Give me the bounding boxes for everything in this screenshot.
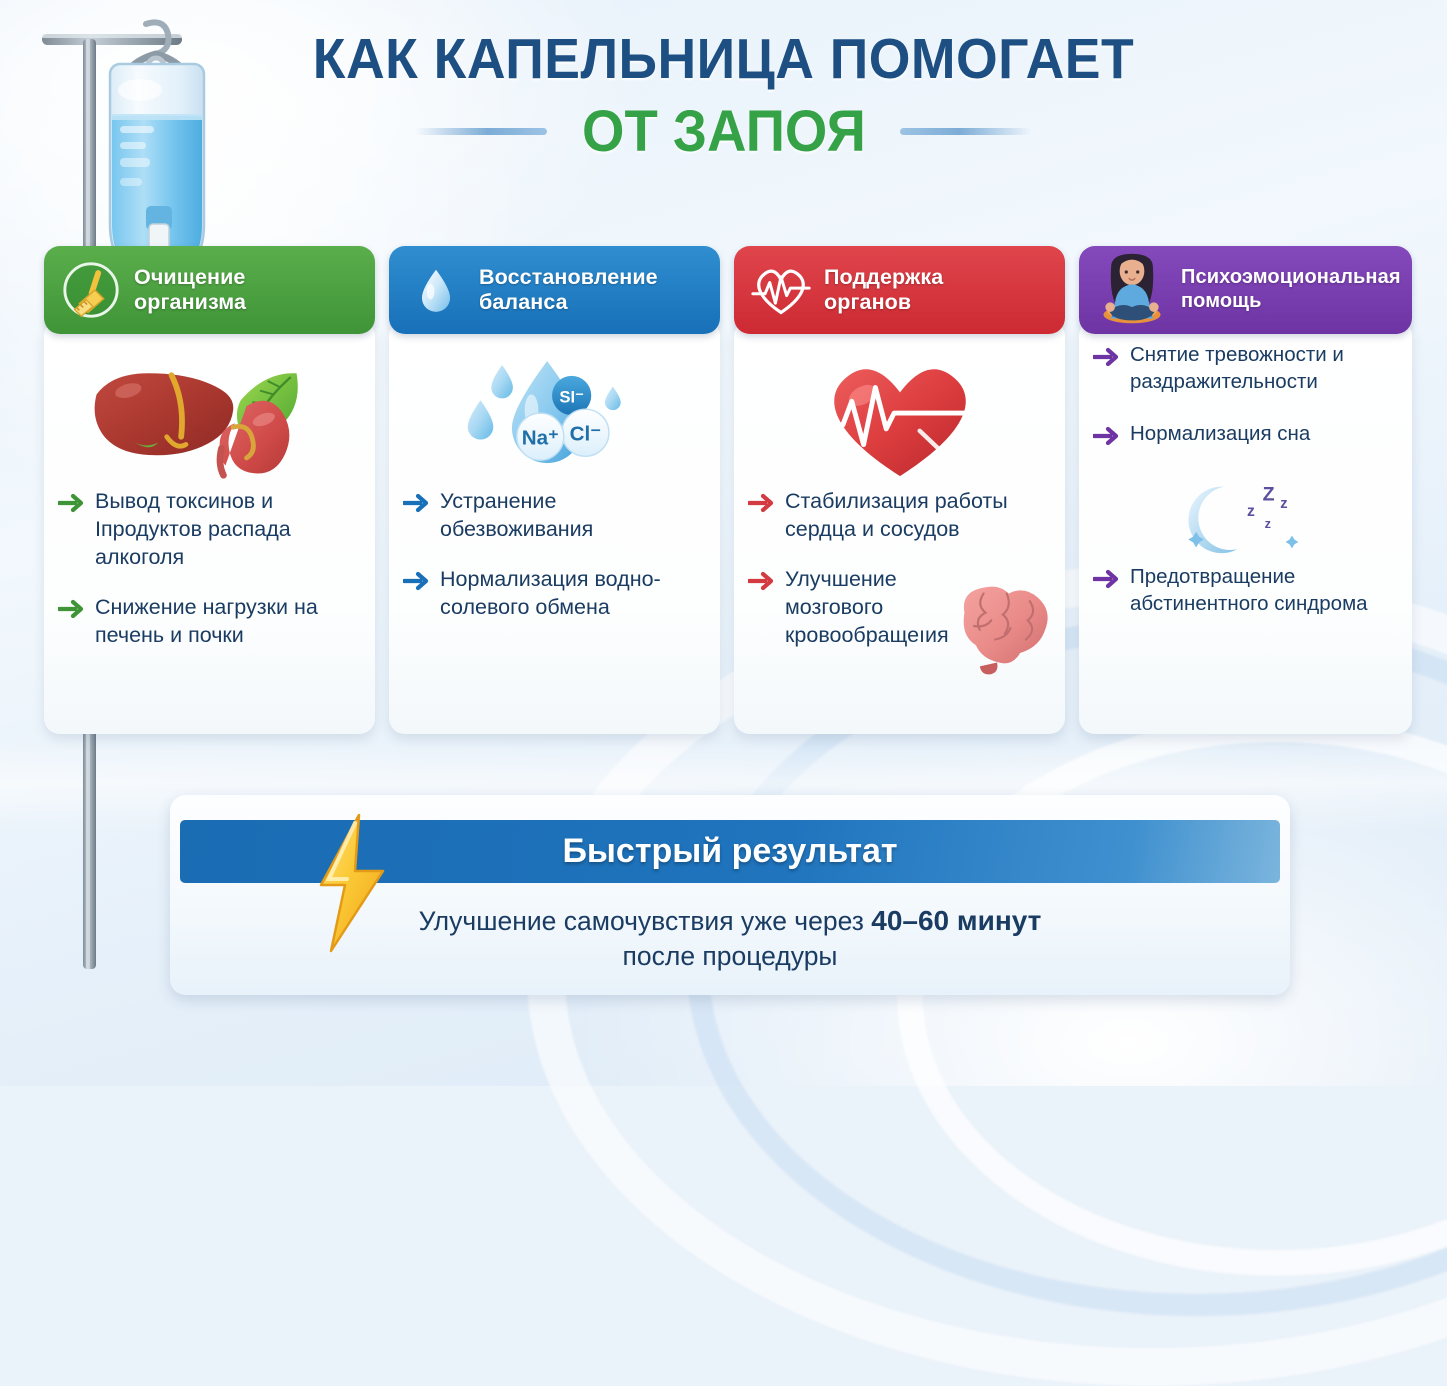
card-organs[interactable]: Поддержкаорганов — [734, 246, 1065, 746]
list-item: Улучшение мозгового кровообращеıия — [748, 566, 1051, 650]
card-organs-bullets: Стабилизация работы сердца и сосудов Улу… — [748, 488, 1051, 650]
bullet-text: Нормализация водно-солевого обмена — [440, 566, 706, 622]
bullet-text: Устранение обезвоживания — [440, 488, 706, 544]
bullet-text: Нормализация сна — [1130, 421, 1310, 448]
svg-text:z: z — [1264, 516, 1270, 531]
card-psycho[interactable]: Психоэмоциональнаяпомощь Снятие тревожно… — [1079, 246, 1412, 746]
benefit-cards: Очищениеорганизма — [44, 246, 1412, 746]
page-subtitle-row: ОТ ЗАПОЯ — [0, 98, 1447, 165]
card-balance-title: Восстановлениебаланса — [479, 265, 658, 316]
svg-text:z: z — [1246, 503, 1254, 520]
card-psycho-bullets: Снятие тревожности и раздражительности Н… — [1093, 342, 1398, 617]
page-title-line2: ОТ ЗАПОЯ — [582, 98, 866, 165]
arrow-right-icon — [403, 493, 429, 513]
list-item: Снятие тревожности и раздражительности — [1093, 342, 1398, 395]
list-item: Устранение обезвоживания — [403, 488, 706, 544]
arrow-right-icon — [1093, 569, 1119, 589]
list-item: Вывод токсинов и Iпродуктов распада алко… — [58, 488, 361, 572]
bullet-text: Вывод токсинов и Iпродуктов распада алко… — [95, 488, 361, 572]
card-cleansing-body: Вывод токсинов и Iпродуктов распада алко… — [44, 320, 375, 734]
list-item: Нормализация сна — [1093, 421, 1398, 448]
arrow-right-icon — [58, 493, 84, 513]
card-balance-bullets: Устранение обезвоживания Нормализация во… — [403, 488, 706, 622]
electrolyte-label-na: Na⁺ — [521, 426, 558, 449]
fast-result-banner[interactable]: Быстрый результат Улучшение самочувствия… — [170, 795, 1290, 995]
list-item: Стабилизация работы сердца и сосудов — [748, 488, 1051, 544]
title-rule-left — [415, 128, 547, 135]
meditating-woman-icon — [1093, 257, 1171, 323]
arrow-right-icon — [58, 599, 84, 619]
list-item: Предотвращение абстинентного синдрома — [1093, 564, 1398, 617]
bullet-text: Стабилизация работы сердца и сосудов — [785, 488, 1051, 544]
bullet-text: Снижение нагрузки на печень и почки — [95, 594, 361, 650]
card-psycho-header: Психоэмоциональнаяпомощь — [1079, 246, 1412, 334]
card-cleansing-bullets: Вывод токсинов и Iпродуктов распада алко… — [58, 488, 361, 650]
arrow-right-icon — [1093, 347, 1119, 367]
list-item: Снижение нагрузки на печень и почки — [58, 594, 361, 650]
broom-cleaning-icon — [58, 257, 124, 323]
card-psycho-body: Снятие тревожности и раздражительности Н… — [1079, 320, 1412, 734]
electrolyte-label-cl: Cl⁻ — [569, 423, 601, 446]
title-rule-right — [900, 128, 1032, 135]
svg-text:Z: Z — [1262, 483, 1274, 505]
arrow-right-icon — [403, 571, 429, 591]
card-organs-title: Поддержкаорганов — [824, 265, 943, 316]
brain-icon — [941, 580, 1057, 676]
moon-sleep-zzz-icon: Z z z z — [1093, 474, 1398, 564]
banner-title: Быстрый результат — [562, 832, 897, 871]
bullet-text: Предотвращение абстинентного синдрома — [1130, 564, 1398, 617]
card-balance-body: SI⁻ Cl⁻ Na⁺ Устранение обезвоживания — [389, 320, 720, 734]
electrolyte-label-k: SI⁻ — [559, 387, 584, 406]
liver-kidney-leaf-icon — [58, 354, 361, 482]
card-organs-body: Стабилизация работы сердца и сосудов Улу… — [734, 320, 1065, 734]
list-item: Нормализация водно-солевого обмена — [403, 566, 706, 622]
arrow-right-icon — [748, 493, 774, 513]
heart-pulse-icon — [748, 354, 1051, 482]
page-header: КАК КАПЕЛЬНИЦА ПОМОГАЕТ ОТ ЗАПОЯ — [0, 26, 1447, 165]
bullet-text: Снятие тревожности и раздражительности — [1130, 342, 1398, 395]
card-cleansing-title: Очищениеорганизма — [134, 265, 246, 316]
card-organs-header: Поддержкаорганов — [734, 246, 1065, 334]
card-cleansing-header: Очищениеорганизма — [44, 246, 375, 334]
card-balance-header: Восстановлениебаланса — [389, 246, 720, 334]
banner-sub-highlight: 40–60 минут — [871, 905, 1041, 936]
page-title-line1: КАК КАПЕЛЬНИЦА ПОМОГАЕТ — [43, 26, 1403, 92]
water-drop-icon — [403, 257, 469, 323]
banner-sub-prefix: Улучшение самочувствия уже через — [419, 906, 872, 936]
electrolyte-drops-icon: SI⁻ Cl⁻ Na⁺ — [403, 354, 706, 482]
lightning-bolt-icon — [305, 813, 395, 953]
card-balance[interactable]: Восстановлениебаланса — [389, 246, 720, 746]
svg-text:z: z — [1280, 496, 1287, 512]
card-psycho-title: Психоэмоциональнаяпомощь — [1181, 266, 1401, 313]
heart-pulse-outline-icon — [748, 257, 814, 323]
arrow-right-icon — [748, 571, 774, 591]
arrow-right-icon — [1093, 426, 1119, 446]
card-cleansing[interactable]: Очищениеорганизма — [44, 246, 375, 746]
